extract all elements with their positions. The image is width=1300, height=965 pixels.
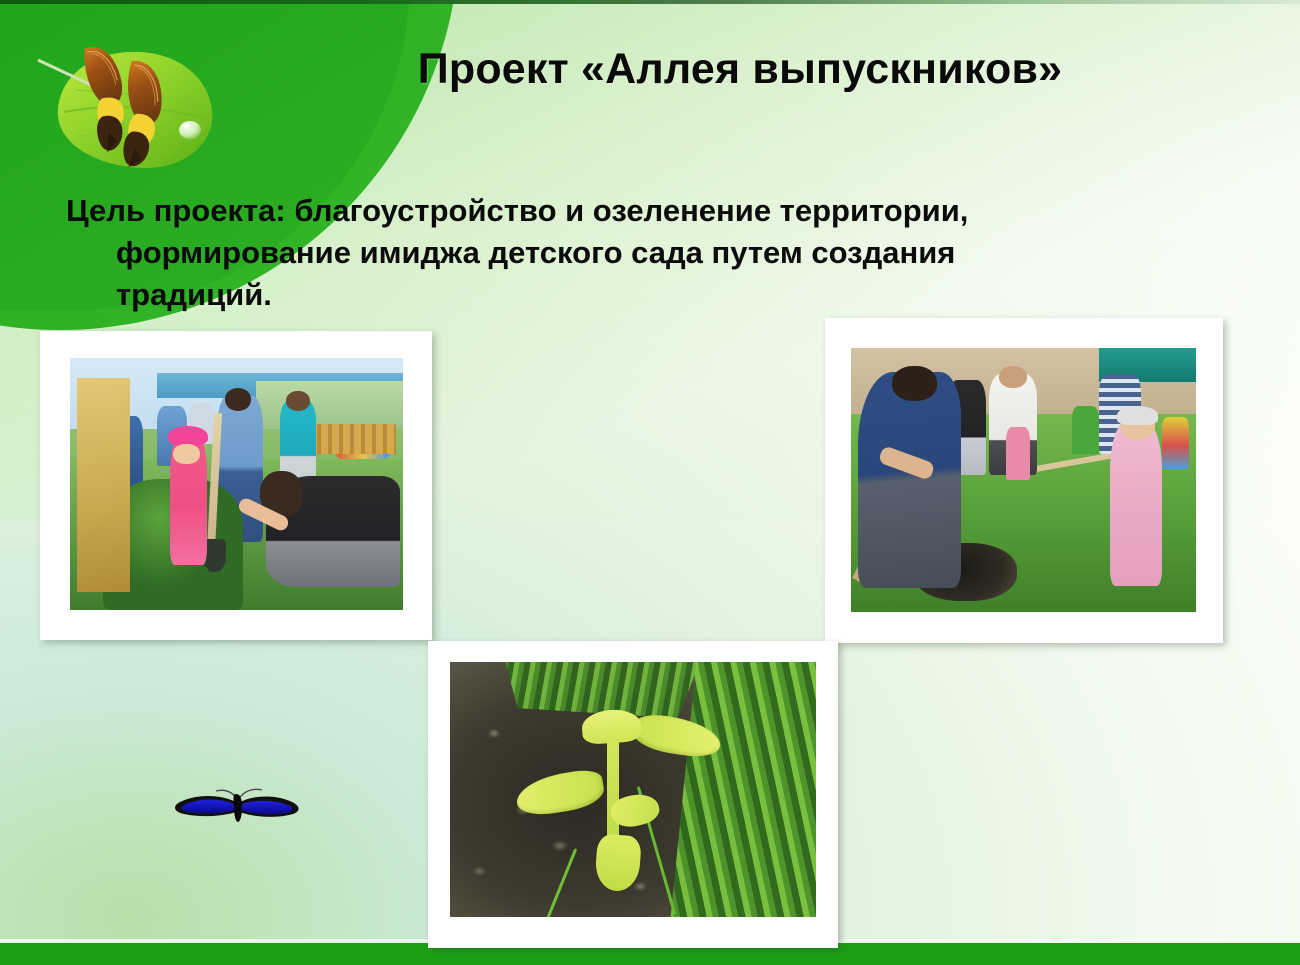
- photo-oak-seedling: Молодой росток дуба со светло-зелёными л…: [428, 641, 838, 948]
- photo-planting-with-children: Взрослые и дети высаживают саженцы на уч…: [40, 331, 432, 640]
- photo2-image: Мужчина копает лопатой яму, девочка в ро…: [851, 348, 1196, 612]
- photo-digging-hole: Мужчина копает лопатой яму, девочка в ро…: [825, 318, 1223, 643]
- blue-butterfly-icon: [168, 782, 308, 834]
- butterfly-on-leaf-icon: [36, 34, 226, 174]
- photo1-image: Взрослые и дети высаживают саженцы на уч…: [70, 358, 403, 610]
- goal-line-1: Цель проекта: благоустройство и озеленен…: [66, 190, 1186, 232]
- presentation-slide: Взрослые и дети высаживают саженцы на уч…: [0, 0, 1300, 965]
- photo3-image: Молодой росток дуба со светло-зелёными л…: [450, 662, 816, 917]
- project-goal-text: Цель проекта: благоустройство и озеленен…: [66, 190, 1186, 316]
- goal-line-2: формирование имиджа детского сада путем …: [66, 232, 1186, 274]
- slide-title: Проект «Аллея выпускников»: [300, 47, 1180, 92]
- top-edge-line: [0, 0, 1300, 4]
- goal-line-3: традиций.: [66, 274, 1186, 316]
